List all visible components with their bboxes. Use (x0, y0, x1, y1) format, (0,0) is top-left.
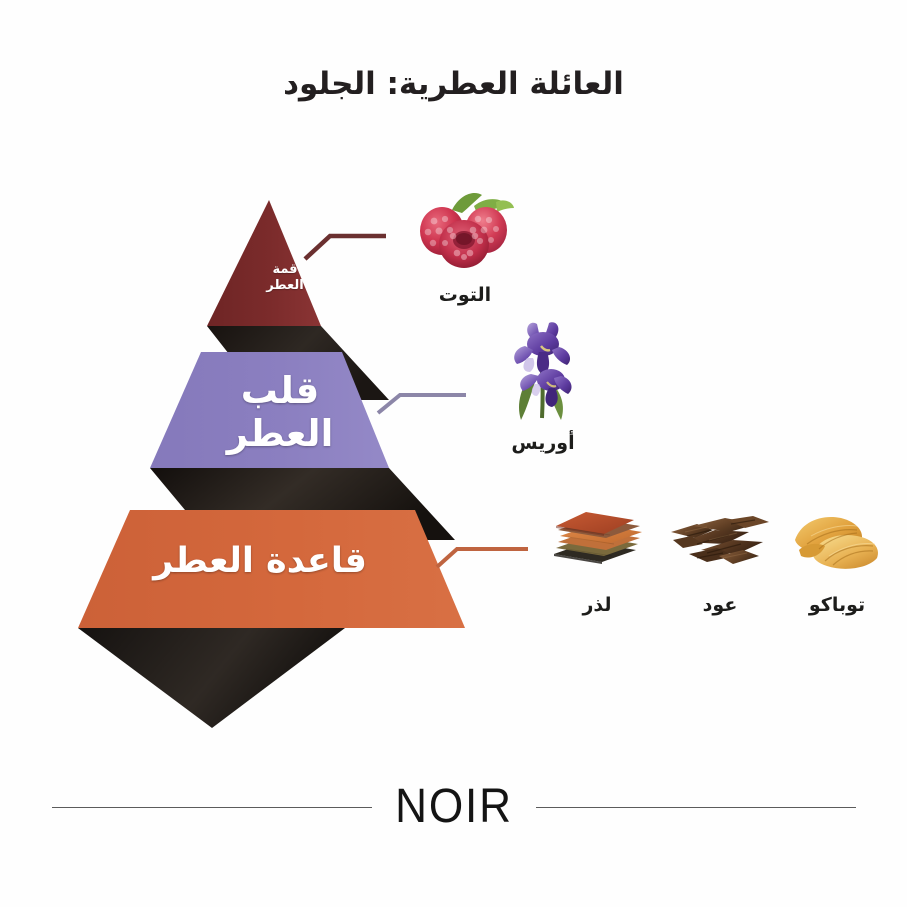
pyramid-layer-base (78, 510, 465, 628)
connector-line-base (437, 549, 528, 567)
brand-name: NOIR (395, 783, 513, 831)
raspberry-icon (412, 186, 518, 270)
note-label-oud: عود (655, 594, 785, 616)
note-label-berry: التوت (390, 284, 540, 306)
pyramid-layer-top (207, 200, 321, 326)
pyramid-shadow-base (78, 628, 345, 728)
note-item-leather: لذر (532, 506, 662, 616)
connector-line-top (305, 236, 386, 259)
iris-flower-icon (497, 318, 589, 422)
fragrance-pyramid: قمة العطر قلب العطر قاعدة العطر (0, 0, 907, 907)
oud-wood-icon (667, 506, 773, 578)
brand-rule-left (536, 807, 856, 808)
brand-rule-right (52, 807, 372, 808)
note-label-tobacco: توباكو (772, 594, 902, 616)
note-label-leather: لذر (532, 594, 662, 616)
tobacco-leaf-icon (787, 506, 887, 578)
note-item-berry: التوت (390, 186, 540, 306)
brand-footer: NOIR (0, 783, 907, 831)
leather-swatch-icon (544, 506, 650, 578)
note-label-orris: أوريس (468, 432, 618, 454)
note-item-oud: عود (655, 506, 785, 616)
note-item-orris: أوريس (468, 318, 618, 454)
connector-line-mid (378, 395, 466, 413)
note-item-tobacco: توباكو (772, 506, 902, 616)
